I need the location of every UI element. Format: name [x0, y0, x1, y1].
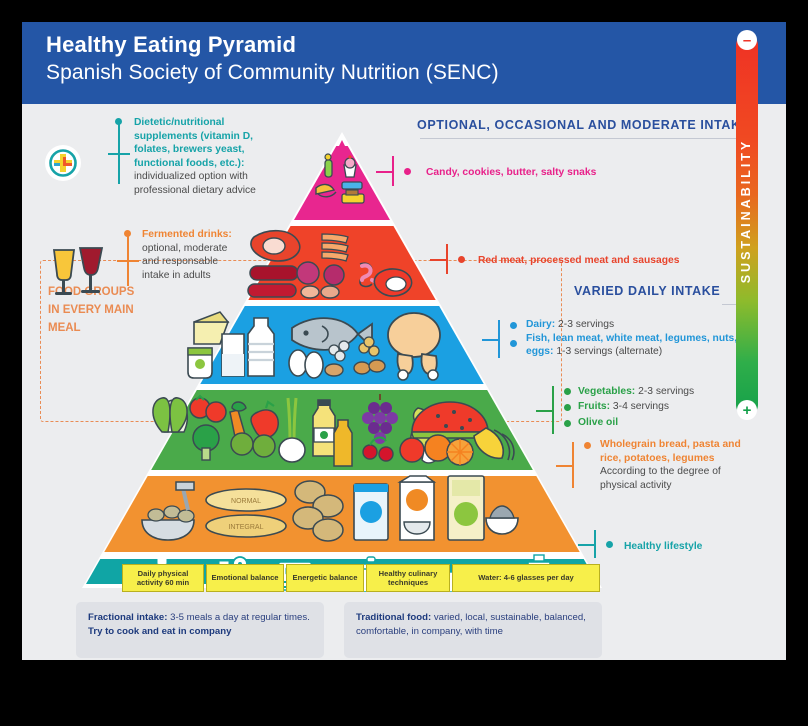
base-label-3: Healthy culinary techniques	[366, 564, 450, 592]
note-grains-bold: Wholegrain bread, pasta and rice, potato…	[600, 439, 741, 464]
note-plants-bold-1: Fruits:	[578, 401, 610, 412]
note-plants: Vegetables: 2-3 servings Fruits: 3-4 ser…	[578, 384, 758, 430]
footer-card-traditional: Traditional food: varied, local, sustain…	[344, 602, 602, 658]
note-dairy-rest-0: 2-3 servings	[555, 319, 614, 330]
note-lifestyle: Healthy lifestyle	[624, 540, 764, 554]
sustainability-plus-icon: +	[737, 400, 757, 420]
footer-0-rest: 3-5 meals a day at regular times.	[167, 612, 309, 623]
food-pyramid: NORMAL INTEGRAL	[82, 132, 602, 592]
note-dairy-bold-0: Dairy:	[526, 319, 555, 330]
note-plants-rest-1: 3-4 servings	[610, 401, 669, 412]
sustainability-bar: – SUSTAINABILITY +	[736, 34, 758, 416]
footer-card-fractional: Fractional intake: 3-5 meals a day at re…	[76, 602, 324, 658]
header-banner: Healthy Eating Pyramid Spanish Society o…	[22, 22, 786, 104]
note-dairy-rest-1: 1-3 servings (alternate)	[553, 346, 662, 357]
supplement-plus-icon	[44, 144, 82, 187]
svg-text:NORMAL: NORMAL	[231, 498, 261, 505]
page-subtitle: Spanish Society of Community Nutrition (…	[46, 61, 786, 85]
note-grains: Wholegrain bread, pasta and rice, potato…	[600, 438, 746, 492]
base-label-0: Daily physical activity 60 min	[122, 564, 204, 592]
footer-1-bold: Traditional food:	[356, 612, 431, 623]
note-dairy: Dairy: 2-3 servings Fish, lean meat, whi…	[526, 318, 748, 359]
footer-0-bold: Fractional intake:	[88, 612, 167, 623]
page-title: Healthy Eating Pyramid	[46, 32, 786, 58]
base-label-1: Emotional balance	[206, 564, 284, 592]
infographic-canvas: Healthy Eating Pyramid Spanish Society o…	[22, 22, 786, 660]
svg-text:INTEGRAL: INTEGRAL	[228, 524, 263, 531]
sustainability-label: SUSTAINABILITY	[739, 41, 753, 381]
base-label-2: Energetic balance	[286, 564, 364, 592]
note-plants-bold-2: Olive oil	[578, 417, 618, 428]
section-heading-optional: OPTIONAL, OCCASIONAL AND MODERATE INTAKE	[417, 118, 750, 132]
note-plants-rest-0: 2-3 servings	[635, 386, 694, 397]
footer-0-bold2: Try to cook and eat in company	[88, 626, 231, 637]
note-redmeat: Red meat, processed meat and sausages	[478, 254, 718, 268]
note-grains-rest: According to the degree of physical acti…	[600, 466, 721, 491]
tier-protein-icons	[188, 312, 440, 380]
base-label-4: Water: 4-6 glasses per day	[452, 564, 600, 592]
note-candy: Candy, cookies, butter, salty snaks	[426, 166, 646, 180]
note-plants-bold-0: Vegetables:	[578, 386, 635, 397]
